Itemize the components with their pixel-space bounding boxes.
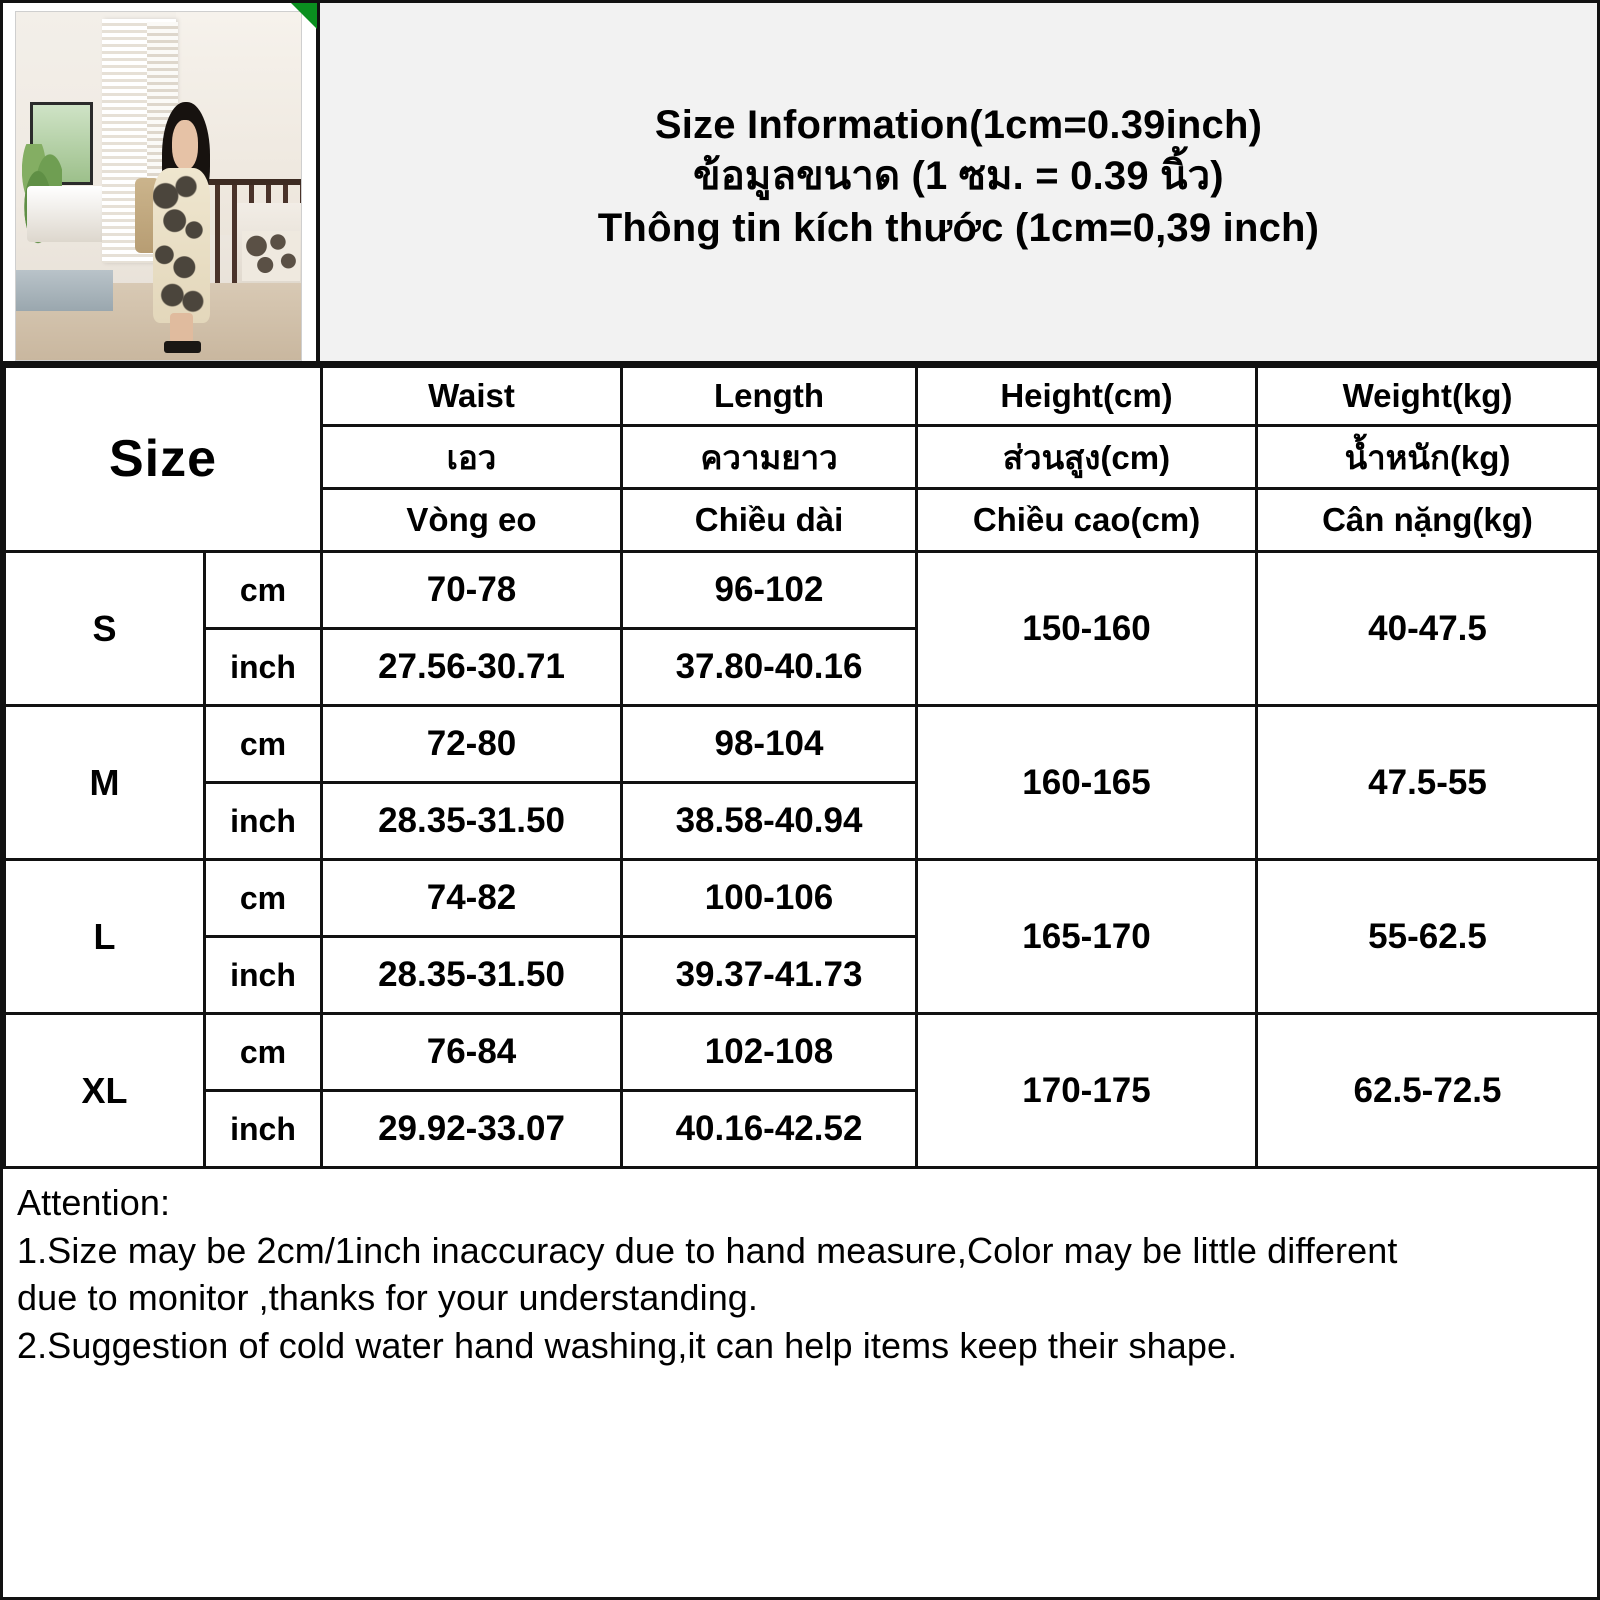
attention-note-1-part-2: due to monitor ,thanks for your understa…	[17, 1274, 1583, 1322]
header-length-en: Length	[622, 367, 917, 426]
waist-cm-l: 74-82	[322, 860, 622, 937]
size-header-cell: Size	[5, 367, 322, 552]
title-vietnamese: Thông tin kích thước (1cm=0,39 inch)	[598, 203, 1319, 254]
title-block: Size Information(1cm=0.39inch) ข้อมูลขนา…	[320, 3, 1597, 361]
waist-inch-xl: 29.92-33.07	[322, 1091, 622, 1168]
height-xl: 170-175	[917, 1014, 1257, 1168]
attention-title: Attention:	[17, 1179, 1583, 1227]
photo-model-face	[172, 120, 198, 170]
length-cm-m: 98-104	[622, 706, 917, 783]
header-height-vi: Chiều cao(cm)	[917, 489, 1257, 552]
size-table: Size Waist Length Height(cm) Weight(kg) …	[3, 365, 1600, 1169]
unit-cell-cm: cm	[205, 860, 322, 937]
header-band: Size Information(1cm=0.39inch) ข้อมูลขนา…	[3, 3, 1597, 365]
unit-cell-inch: inch	[205, 783, 322, 860]
unit-cell-cm: cm	[205, 552, 322, 629]
header-waist-th: เอว	[322, 426, 622, 489]
length-inch-l: 39.37-41.73	[622, 937, 917, 1014]
header-weight-th: น้ำหนัก(kg)	[1257, 426, 1599, 489]
waist-inch-m: 28.35-31.50	[322, 783, 622, 860]
header-length-th: ความยาว	[622, 426, 917, 489]
weight-s: 40-47.5	[1257, 552, 1599, 706]
title-thai: ข้อมูลขนาด (1 ซม. = 0.39 นิ้ว)	[693, 151, 1224, 202]
length-inch-m: 38.58-40.94	[622, 783, 917, 860]
header-weight-vi: Cân nặng(kg)	[1257, 489, 1599, 552]
attention-block: Attention: 1.Size may be 2cm/1inch inacc…	[3, 1169, 1597, 1385]
length-cm-xl: 102-108	[622, 1014, 917, 1091]
unit-cell-cm: cm	[205, 706, 322, 783]
title-english: Size Information(1cm=0.39inch)	[655, 100, 1262, 151]
table-header-row-english: Size Waist Length Height(cm) Weight(kg)	[5, 367, 1599, 426]
size-cell-l: L	[5, 860, 205, 1014]
height-l: 165-170	[917, 860, 1257, 1014]
table-row: XL cm 76-84 102-108 170-175 62.5-72.5	[5, 1014, 1599, 1091]
size-cell-s: S	[5, 552, 205, 706]
waist-inch-s: 27.56-30.71	[322, 629, 622, 706]
unit-cell-inch: inch	[205, 937, 322, 1014]
weight-l: 55-62.5	[1257, 860, 1599, 1014]
attention-note-2: 2.Suggestion of cold water hand washing,…	[17, 1322, 1583, 1370]
height-s: 150-160	[917, 552, 1257, 706]
green-corner-marker-icon	[291, 3, 317, 29]
photo-model-dress	[153, 168, 209, 323]
header-waist-vi: Vòng eo	[322, 489, 622, 552]
weight-m: 47.5-55	[1257, 706, 1599, 860]
product-photo-cell	[3, 3, 320, 361]
size-cell-m: M	[5, 706, 205, 860]
photo-floor-accent	[16, 270, 113, 312]
photo-model-legs	[170, 313, 192, 343]
waist-cm-xl: 76-84	[322, 1014, 622, 1091]
unit-cell-inch: inch	[205, 629, 322, 706]
waist-cm-s: 70-78	[322, 552, 622, 629]
attention-note-1-part-1: 1.Size may be 2cm/1inch inaccuracy due t…	[17, 1227, 1583, 1275]
size-cell-xl: XL	[5, 1014, 205, 1168]
photo-model	[141, 102, 227, 353]
header-waist-en: Waist	[322, 367, 622, 426]
table-row: M cm 72-80 98-104 160-165 47.5-55	[5, 706, 1599, 783]
header-weight-en: Weight(kg)	[1257, 367, 1599, 426]
photo-model-shoes	[164, 341, 202, 354]
length-cm-s: 96-102	[622, 552, 917, 629]
length-inch-xl: 40.16-42.52	[622, 1091, 917, 1168]
waist-inch-l: 28.35-31.50	[322, 937, 622, 1014]
table-row: L cm 74-82 100-106 165-170 55-62.5	[5, 860, 1599, 937]
header-height-en: Height(cm)	[917, 367, 1257, 426]
height-m: 160-165	[917, 706, 1257, 860]
product-photo	[15, 11, 302, 361]
length-cm-l: 100-106	[622, 860, 917, 937]
unit-cell-cm: cm	[205, 1014, 322, 1091]
table-row: S cm 70-78 96-102 150-160 40-47.5	[5, 552, 1599, 629]
length-inch-s: 37.80-40.16	[622, 629, 917, 706]
header-height-th: ส่วนสูง(cm)	[917, 426, 1257, 489]
header-length-vi: Chiều dài	[622, 489, 917, 552]
waist-cm-m: 72-80	[322, 706, 622, 783]
size-chart-sheet: Size Information(1cm=0.39inch) ข้อมูลขนา…	[0, 0, 1600, 1600]
unit-cell-inch: inch	[205, 1091, 322, 1168]
weight-xl: 62.5-72.5	[1257, 1014, 1599, 1168]
photo-side-table	[27, 186, 113, 242]
